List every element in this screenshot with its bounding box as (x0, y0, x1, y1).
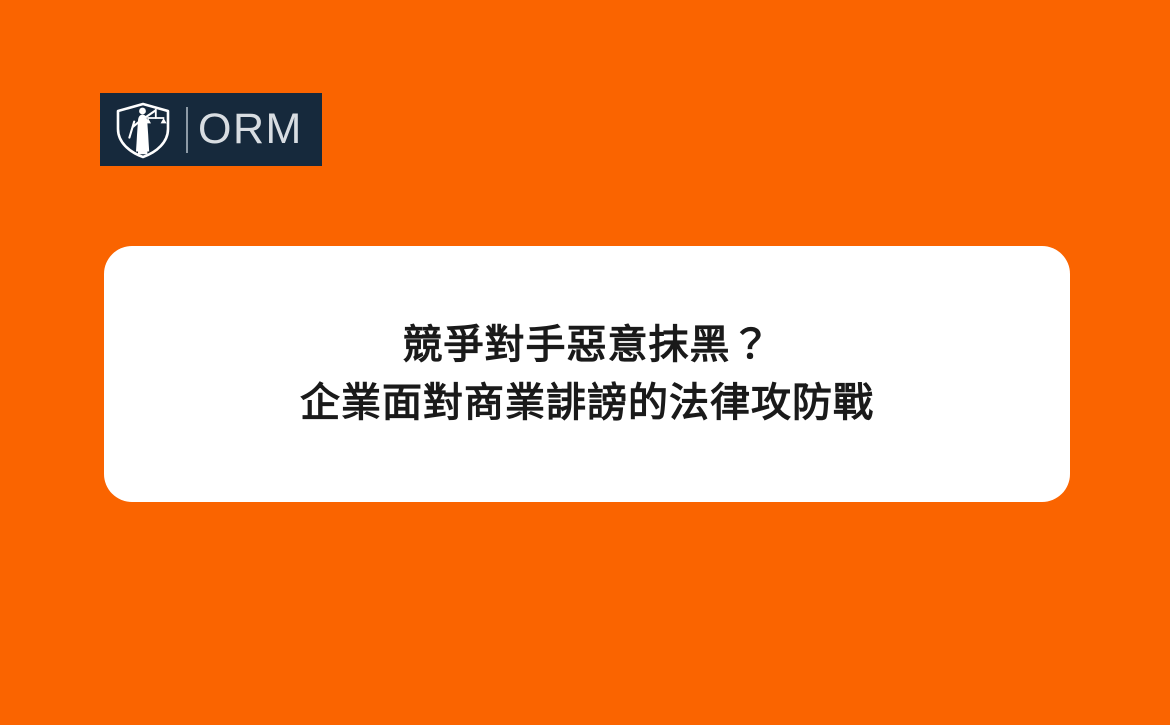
brand-divider (186, 107, 188, 153)
lady-justice-shield-icon (112, 101, 174, 159)
title-card: 競爭對手惡意抹黑？ 企業面對商業誹謗的法律攻防戰 (104, 246, 1070, 502)
page-title-line-1: 競爭對手惡意抹黑？ (403, 316, 772, 374)
brand-badge: ORM (100, 93, 322, 166)
page-title-line-2: 企業面對商業誹謗的法律攻防戰 (300, 374, 874, 432)
slide-canvas: ORM 競爭對手惡意抹黑？ 企業面對商業誹謗的法律攻防戰 (0, 0, 1170, 725)
brand-wordmark: ORM (198, 108, 303, 151)
